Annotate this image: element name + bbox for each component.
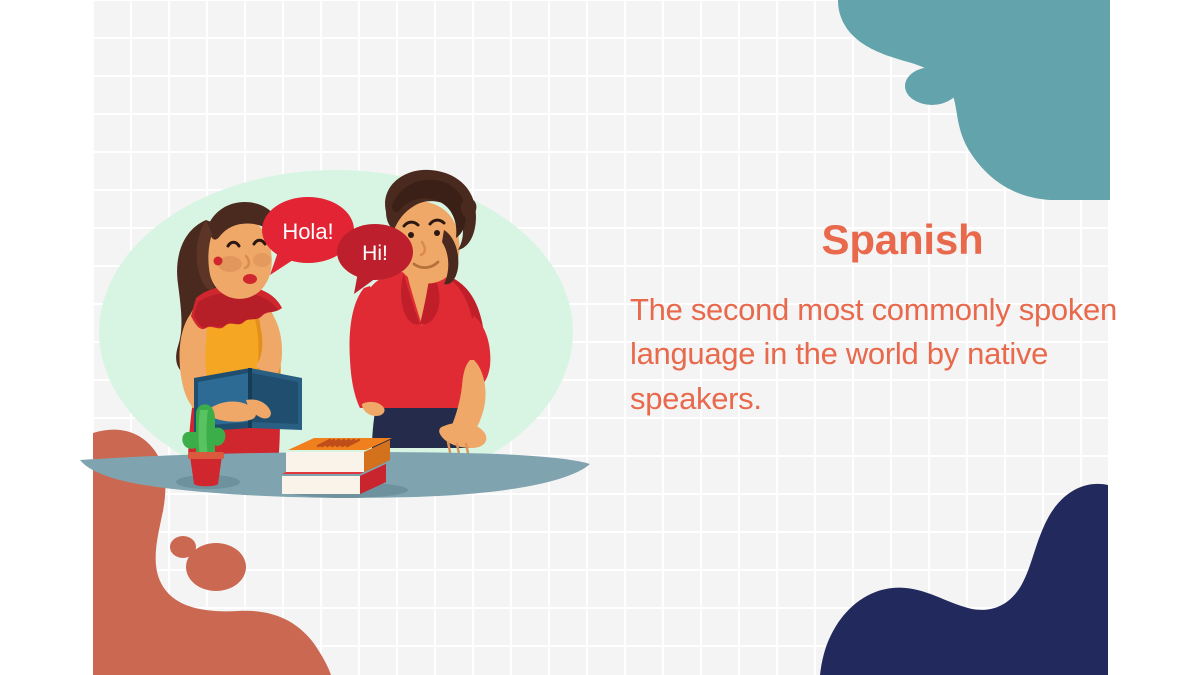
page-title: Spanish <box>630 218 1175 262</box>
text-content-block: Spanish The second most commonly spoken … <box>630 218 1175 421</box>
description-text: The second most commonly spoken language… <box>630 288 1175 421</box>
slide-root: Hola! Hi! <box>0 0 1200 675</box>
speech-bubble-hi-text: Hi! <box>362 242 388 265</box>
speech-bubble-hola-text: Hola! <box>282 219 333 244</box>
conversation-illustration: Hola! Hi! <box>78 160 598 500</box>
